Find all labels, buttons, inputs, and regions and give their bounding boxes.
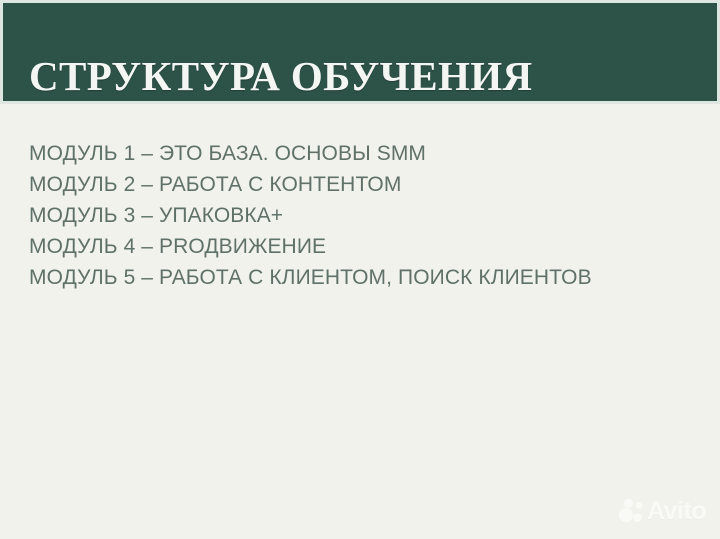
list-item: МОДУЛЬ 5 – РАБОТА С КЛИЕНТОМ, ПОИСК КЛИЕ… — [29, 262, 689, 293]
avito-watermark-label: Avito — [647, 499, 706, 524]
avito-watermark: Avito — [618, 494, 704, 528]
slide-canvas: СТРУКТУРА ОБУЧЕНИЯ МОДУЛЬ 1 – ЭТО БАЗА. … — [0, 0, 720, 539]
page-title: СТРУКТУРА ОБУЧЕНИЯ — [29, 52, 533, 100]
module-list: МОДУЛЬ 1 – ЭТО БАЗА. ОСНОВЫ SMM МОДУЛЬ 2… — [29, 138, 689, 293]
list-item: МОДУЛЬ 2 – РАБОТА С КОНТЕНТОМ — [29, 169, 689, 200]
list-item: МОДУЛЬ 1 – ЭТО БАЗА. ОСНОВЫ SMM — [29, 138, 689, 169]
list-item: МОДУЛЬ 4 – PRОДВИЖЕНИЕ — [29, 231, 689, 262]
avito-dots-icon — [618, 498, 644, 524]
list-item: МОДУЛЬ 3 – УПАКОВКА+ — [29, 200, 689, 231]
